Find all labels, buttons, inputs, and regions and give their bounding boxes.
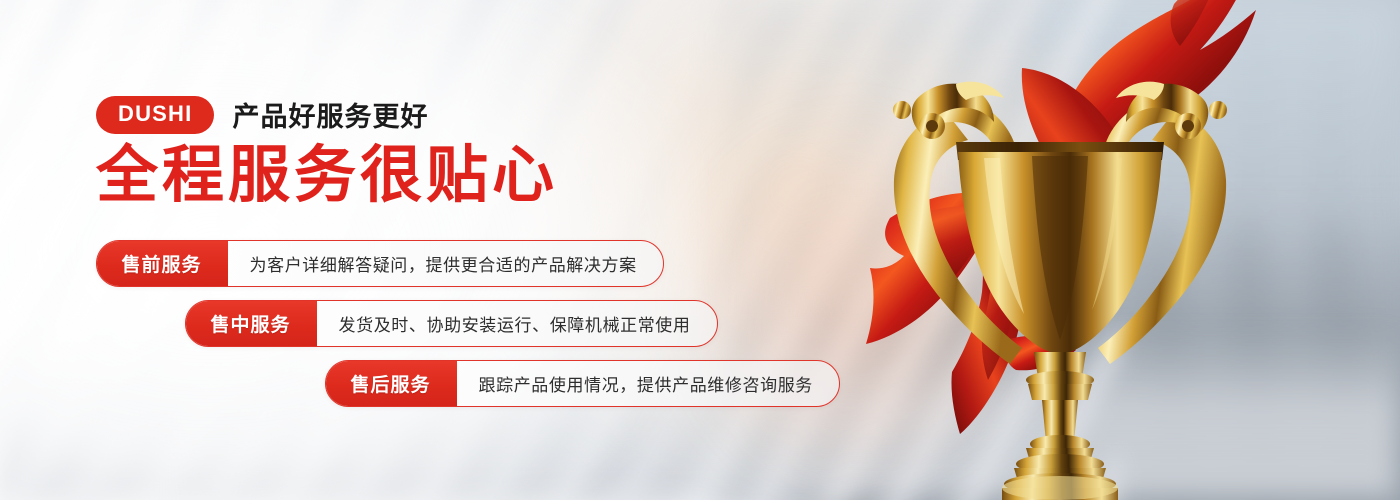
service-description: 发货及时、协助安装运行、保障机械正常使用 (317, 301, 717, 346)
list-item[interactable]: 售后服务 跟踪产品使用情况，提供产品维修咨询服务 (325, 360, 840, 407)
list-item[interactable]: 售前服务 为客户详细解答疑问，提供更合适的产品解决方案 (96, 240, 664, 287)
eyebrow-text: 产品好服务更好 (232, 95, 428, 134)
banner-content: DUSHI 产品好服务更好 全程服务很贴心 售前服务 为客户详细解答疑问，提供更… (0, 0, 900, 500)
service-description: 跟踪产品使用情况，提供产品维修咨询服务 (457, 361, 839, 406)
service-label: 售中服务 (185, 300, 317, 347)
list-item[interactable]: 售中服务 发货及时、协助安装运行、保障机械正常使用 (185, 300, 718, 347)
service-description: 为客户详细解答疑问，提供更合适的产品解决方案 (228, 241, 663, 286)
service-label: 售后服务 (325, 360, 457, 407)
promo-banner: DUSHI 产品好服务更好 全程服务很贴心 售前服务 为客户详细解答疑问，提供更… (0, 0, 1400, 500)
eyebrow-row: DUSHI 产品好服务更好 (96, 95, 428, 134)
brand-badge[interactable]: DUSHI (96, 96, 214, 134)
page-title: 全程服务很贴心 (96, 142, 558, 207)
service-label: 售前服务 (96, 240, 228, 287)
